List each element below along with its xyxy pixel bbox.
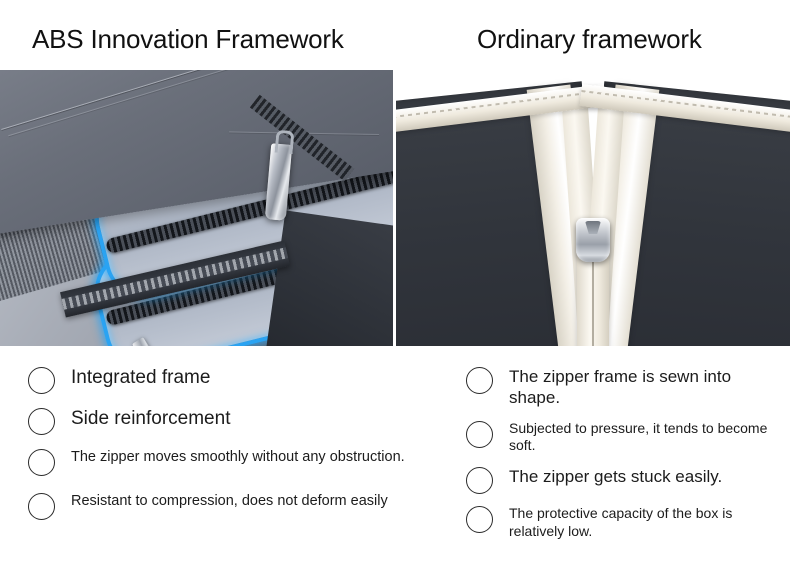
circle-bullet-icon [466, 506, 493, 533]
abs-frame-photo [0, 70, 393, 346]
circle-bullet-icon [466, 467, 493, 494]
right-dark-flap [262, 210, 393, 346]
list-item-label: The zipper gets stuck easily. [509, 466, 722, 487]
page-title-ordinary: Ordinary framework [477, 24, 702, 55]
list-item: The zipper frame is sewn into shape. [466, 366, 784, 409]
list-item-label: The protective capacity of the box is re… [509, 505, 784, 540]
list-item: The protective capacity of the box is re… [466, 505, 784, 540]
list-item-label: The zipper moves smoothly without any ob… [71, 448, 405, 466]
list-item-label: Subjected to pressure, it tends to becom… [509, 420, 784, 455]
feature-list-ordinary: The zipper frame is sewn into shape. Sub… [466, 366, 784, 551]
circle-bullet-icon [28, 449, 55, 476]
circle-bullet-icon [466, 421, 493, 448]
page-title-abs: ABS Innovation Framework [32, 24, 344, 55]
zipper-slider-icon [576, 218, 610, 262]
circle-bullet-icon [28, 408, 55, 435]
list-item: Side reinforcement [28, 407, 458, 435]
list-item: The zipper gets stuck easily. [466, 466, 784, 494]
list-item-label: Side reinforcement [71, 407, 230, 431]
circle-bullet-icon [28, 493, 55, 520]
list-item: Subjected to pressure, it tends to becom… [466, 420, 784, 455]
list-item-label: Integrated frame [71, 366, 210, 390]
list-item-label: The zipper frame is sewn into shape. [509, 366, 784, 409]
list-item-label: Resistant to compression, does not defor… [71, 492, 388, 510]
list-item: The zipper moves smoothly without any ob… [28, 448, 458, 476]
feature-list-abs: Integrated frame Side reinforcement The … [28, 366, 458, 536]
circle-bullet-icon [466, 367, 493, 394]
ordinary-zipper-photo [396, 70, 790, 346]
list-item: Resistant to compression, does not defor… [28, 492, 458, 520]
list-item: Integrated frame [28, 366, 458, 394]
circle-bullet-icon [28, 367, 55, 394]
